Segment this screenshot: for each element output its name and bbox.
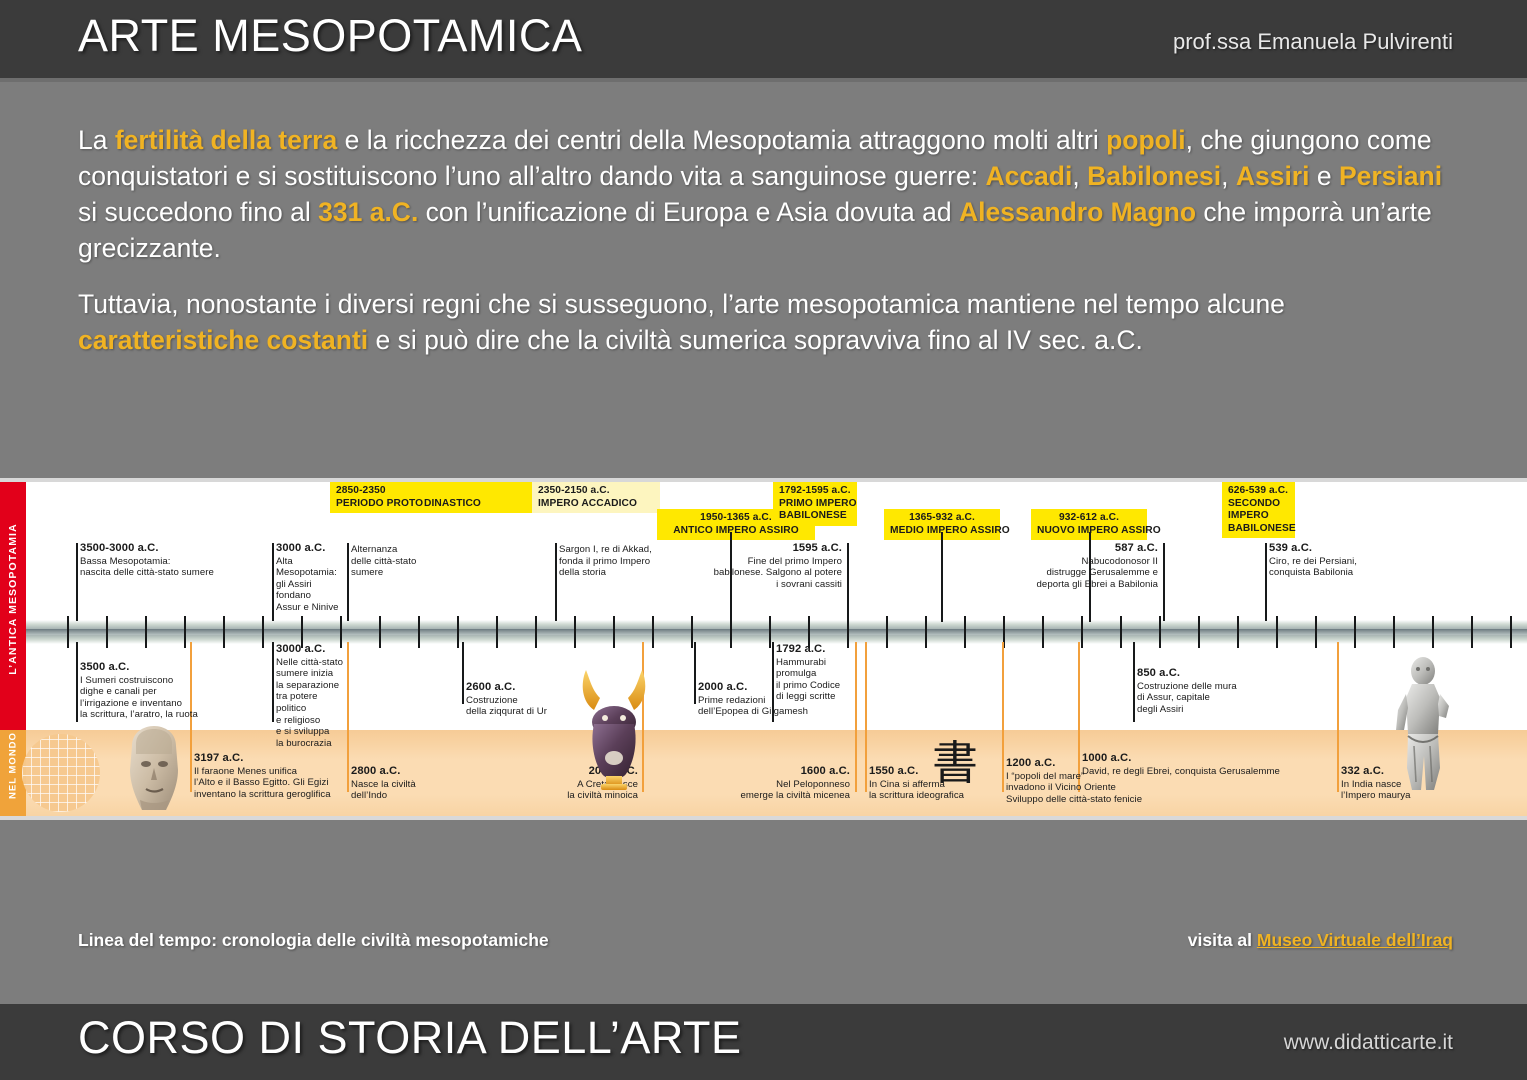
p2-t2: e si può dire che la civiltà sumerica so… [368, 325, 1143, 355]
p1-h7: 331 a.C. [318, 197, 418, 227]
event-line: e religioso [276, 715, 350, 727]
era-years: 2850-2350 [336, 485, 526, 498]
axis-tick [613, 616, 615, 648]
event-line: Ciro, re dei Persiani, [1269, 556, 1389, 568]
chinese-ideogram-glyph: 書 [932, 740, 978, 786]
event-line: della ziqqurat di Ur [466, 706, 586, 718]
era-stem-line [941, 532, 943, 622]
axis-tick [574, 616, 576, 648]
p1-h2: popoli [1106, 125, 1185, 155]
axis-tick [652, 616, 654, 648]
event-line: Nasce la civiltà [351, 779, 443, 791]
era-years: 932-612 a.C. [1037, 512, 1141, 525]
p1-t2: e la ricchezza dei centri della Mesopota… [337, 125, 1106, 155]
event-line: deporta gli Ebrei a Babilonia [1000, 579, 1158, 591]
axis-tick [1081, 616, 1083, 648]
event-line: gli Assiri fondano [276, 579, 348, 602]
visit-prefix: visita al [1188, 930, 1257, 950]
event-date: 1595 a.C. [687, 543, 842, 555]
event-line: I Sumeri costruiscono [80, 675, 240, 687]
p1-h1: fertilità della terra [115, 125, 337, 155]
p1-h8: Alessandro Magno [959, 197, 1196, 227]
event-line: dell’Indo [351, 790, 443, 802]
event-note-3000-citta-stato: 3000 a.C. Nelle città-stato sumere inizi… [276, 644, 350, 749]
event-leader-line [1265, 543, 1267, 621]
event-leader-line [555, 543, 557, 621]
museum-link[interactable]: Museo Virtuale dell’Iraq [1257, 930, 1453, 950]
axis-tick [1276, 616, 1278, 648]
event-date: 1792 a.C. [776, 644, 848, 656]
event-line: Sviluppo delle città-stato fenicie [1006, 794, 1156, 806]
era-label-impero-accadico: 2350-2150 a.C. IMPERO ACCADICO [532, 482, 660, 513]
event-leader-line [272, 642, 274, 722]
p1-t6: e [1309, 161, 1338, 191]
event-leader-line [76, 543, 78, 621]
event-line: emerge la civiltà micenea [710, 790, 850, 802]
museum-visit-line: visita al Museo Virtuale dell’Iraq [1188, 930, 1453, 951]
world-leader-line [855, 642, 857, 792]
event-line: Hammurabi [776, 657, 848, 669]
event-line: di leggi scritte [776, 691, 848, 703]
event-line: distrugge Gerusalemme e [1000, 567, 1158, 579]
world-note-2800: 2800 a.C. Nasce la civiltà dell’Indo [351, 766, 443, 802]
event-leader-line [1133, 642, 1135, 722]
minoan-bull-rhyton-artifact [578, 666, 650, 796]
axis-tick [496, 616, 498, 648]
era-name-right: DINASTICO [424, 498, 532, 511]
event-line: l’Alto e il Basso Egitto. Gli Egizi [194, 777, 354, 789]
event-line: Nabucodonosor II [1000, 556, 1158, 568]
event-line: invadono il Vicino Oriente [1006, 782, 1156, 794]
axis-tick [67, 616, 69, 648]
page-title: ARTE MESOPOTAMICA [78, 10, 582, 62]
world-leader-line [865, 642, 867, 792]
era-label-secondo-impero-babilonese: 626-539 a.C. SECONDO IMPERO BABILONESE [1222, 482, 1295, 538]
axis-tick [1159, 616, 1161, 648]
p1-t1: La [78, 125, 115, 155]
maurya-statue-artifact [1394, 656, 1452, 796]
event-line: Alta Mesopotamia: [276, 556, 348, 579]
event-line: Sargon I, re di Akkad, [559, 544, 683, 556]
event-line: babilonese. Salgono al potere [687, 567, 842, 579]
event-date: 3197 a.C. [194, 753, 354, 765]
event-line: dighe e canali per [80, 686, 240, 698]
p2-h1: caratteristiche costanti [78, 325, 368, 355]
era-years: 626-539 a.C. [1228, 485, 1289, 498]
axis-tick [925, 616, 927, 648]
p1-h6: Persiani [1339, 161, 1442, 191]
era-years: 2350-2150 a.C. [538, 485, 654, 498]
event-line: sumere [351, 567, 423, 579]
event-note-587: 587 a.C. Nabucodonosor II distrugge Geru… [1000, 543, 1158, 590]
era-name: IMPERO ACCADICO [538, 498, 654, 511]
event-date: 3000 a.C. [276, 543, 348, 555]
event-date: 539 a.C. [1269, 543, 1389, 555]
axis-tick [1432, 616, 1434, 648]
event-line: Assur e Ninive [276, 602, 348, 614]
p1-t4: , [1072, 161, 1087, 191]
axis-tick [1198, 616, 1200, 648]
event-note-alternanza: Alternanza delle città-stato sumere [351, 544, 423, 579]
event-leader-line [76, 642, 78, 722]
event-note-1792: 1792 a.C. Hammurabi promulga il primo Co… [776, 644, 848, 703]
era-name-2: BABILONESE [779, 510, 851, 523]
event-leader-line [694, 642, 696, 704]
event-date: 587 a.C. [1000, 543, 1158, 555]
axis-tick [379, 616, 381, 648]
event-line: conquista Babilonia [1269, 567, 1389, 579]
event-note-539: 539 a.C. Ciro, re dei Persiani, conquist… [1269, 543, 1389, 579]
axis-tick [223, 616, 225, 648]
world-note-1600: 1600 a.C. Nel Peloponneso emerge la civi… [710, 766, 850, 802]
slide: ARTE MESOPOTAMICA prof.ssa Emanuela Pulv… [0, 0, 1527, 1080]
event-line: e si sviluppa [276, 726, 350, 738]
event-date: 850 a.C. [1137, 668, 1277, 680]
timeline-panel: L’ANTICA MESOPOTAMIA NEL MONDO [0, 478, 1527, 820]
axis-tick [691, 616, 693, 648]
p1-h4: Babilonesi [1087, 161, 1221, 191]
event-line: fonda il primo Impero [559, 556, 683, 568]
event-line: Bassa Mesopotamia: [80, 556, 255, 568]
event-note-3500-3000: 3500-3000 a.C. Bassa Mesopotamia: nascit… [80, 543, 255, 579]
event-line: degli Assiri [1137, 704, 1277, 716]
event-date: 3000 a.C. [276, 644, 350, 656]
event-line: Nel Peloponneso [710, 779, 850, 791]
event-line: il primo Codice [776, 680, 848, 692]
course-title: CORSO DI STORIA DELL’ARTE [78, 1012, 742, 1064]
event-note-850: 850 a.C. Costruzione delle mura di Assur… [1137, 668, 1277, 715]
egyptian-head-artifact [122, 724, 186, 814]
event-leader-line [1163, 543, 1165, 621]
era-years: 1792-1595 a.C. [779, 485, 851, 498]
event-line: sumere inizia [276, 668, 350, 680]
p2-t1: Tuttavia, nonostante i diversi regni che… [78, 289, 1285, 319]
era-name-3: BABILONESE [1228, 523, 1289, 536]
axis-tick [886, 616, 888, 648]
event-line: nascita delle città-stato sumere [80, 567, 255, 579]
event-note-3000-alta: 3000 a.C. Alta Mesopotamia: gli Assiri f… [276, 543, 348, 614]
event-date: 3500-3000 a.C. [80, 543, 255, 555]
axis-tick [418, 616, 420, 648]
event-line: la burocrazia [276, 738, 350, 750]
event-line: David, re degli Ebrei, conquista Gerusal… [1082, 766, 1342, 778]
event-line: della storia [559, 567, 683, 579]
axis-tick [1315, 616, 1317, 648]
era-name: ANTICO IMPERO ASSIRO [663, 525, 809, 538]
axis-tick [1120, 616, 1122, 648]
event-line: di Assur, capitale [1137, 692, 1277, 704]
event-line: Costruzione [466, 695, 586, 707]
axis-tick [1237, 616, 1239, 648]
timeline-bottom-strip [0, 816, 1527, 820]
event-note-2600: 2600 a.C. Costruzione della ziqqurat di … [466, 682, 586, 718]
event-line: la separazione [276, 680, 350, 692]
event-line: Alternanza [351, 544, 423, 556]
p1-h3: Accadi [985, 161, 1072, 191]
axis-tick [184, 616, 186, 648]
slide-footer: CORSO DI STORIA DELL’ARTE www.didatticar… [0, 1004, 1527, 1080]
axis-tick [964, 616, 966, 648]
axis-tick [1510, 616, 1512, 648]
axis-tick [1042, 616, 1044, 648]
event-line: promulga [776, 668, 848, 680]
p1-t8: con l’unificazione di Europa e Asia dovu… [418, 197, 959, 227]
timeline-caption: Linea del tempo: cronologia delle civilt… [78, 930, 549, 951]
era-label-dinastico: DINASTICO [424, 498, 532, 511]
event-note-3500: 3500 a.C. I Sumeri costruiscono dighe e … [80, 662, 240, 721]
axis-tick [1354, 616, 1356, 648]
axis-tick [769, 616, 771, 648]
event-line: la scrittura ideografica [869, 790, 989, 802]
axis-tick [145, 616, 147, 648]
author-label: prof.ssa Emanuela Pulvirenti [1173, 29, 1453, 55]
world-leader-line [1002, 642, 1004, 792]
event-line: Il faraone Menes unifica [194, 766, 354, 778]
event-line: tra potere politico [276, 691, 350, 714]
event-line: Nelle città-stato [276, 657, 350, 669]
band-label-world-text: NEL MONDO [8, 723, 19, 809]
event-leader-line [462, 642, 464, 704]
event-line: Costruzione delle mura [1137, 681, 1277, 693]
site-url: www.didatticarte.it [1284, 1031, 1453, 1055]
event-date: 2800 a.C. [351, 766, 443, 778]
era-name-1: SECONDO [1228, 498, 1289, 511]
event-leader-line [272, 543, 274, 621]
event-note-sargon: Sargon I, re di Akkad, fonda il primo Im… [559, 544, 683, 579]
globe-icon [22, 734, 100, 812]
event-date: 3500 a.C. [80, 662, 240, 674]
p1-h5: Assiri [1236, 161, 1310, 191]
event-line: Fine del primo Impero [687, 556, 842, 568]
event-date: 1000 a.C. [1082, 753, 1342, 765]
event-line: delle città-stato [351, 556, 423, 568]
timeline-axis-core [26, 629, 1527, 635]
band-label-mesopotamia-text: L’ANTICA MESOPOTAMIA [7, 475, 19, 723]
p1-t7: si succedono fino al [78, 197, 318, 227]
p1-t5: , [1221, 161, 1236, 191]
axis-tick [262, 616, 264, 648]
paragraph-2: Tuttavia, nonostante i diversi regni che… [78, 286, 1458, 358]
axis-tick [106, 616, 108, 648]
body-copy: La fertilità della terra e la ricchezza … [78, 122, 1458, 378]
event-line: la scrittura, l’aratro, la ruota [80, 709, 240, 721]
axis-tick [1393, 616, 1395, 648]
paragraph-1: La fertilità della terra e la ricchezza … [78, 122, 1458, 266]
axis-tick [1471, 616, 1473, 648]
world-note-3197: 3197 a.C. Il faraone Menes unifica l’Alt… [194, 753, 354, 800]
world-note-1000: 1000 a.C. David, re degli Ebrei, conquis… [1082, 753, 1342, 777]
event-note-1595: 1595 a.C. Fine del primo Impero babilone… [687, 543, 842, 590]
era-name-1: PRIMO IMPERO [779, 498, 851, 511]
event-line: dell’Epopea di Gilgamesh [698, 706, 833, 718]
event-line: l’irrigazione e inventano [80, 698, 240, 710]
axis-tick [457, 616, 459, 648]
header-divider [0, 78, 1527, 82]
era-name-2: IMPERO [1228, 510, 1289, 523]
axis-tick [535, 616, 537, 648]
event-line: inventano la scrittura geroglifica [194, 789, 354, 801]
era-years: 1365-932 a.C. [890, 512, 994, 525]
band-label-mesopotamia: L’ANTICA MESOPOTAMIA [0, 482, 26, 730]
slide-header: ARTE MESOPOTAMICA prof.ssa Emanuela Pulv… [0, 0, 1527, 78]
event-date: 2600 a.C. [466, 682, 586, 694]
event-line: i sovrani cassiti [687, 579, 842, 591]
era-label-primo-impero-babilonese: 1792-1595 a.C. PRIMO IMPERO BABILONESE [773, 482, 857, 526]
event-date: 1600 a.C. [710, 766, 850, 778]
event-leader-line [847, 543, 849, 621]
